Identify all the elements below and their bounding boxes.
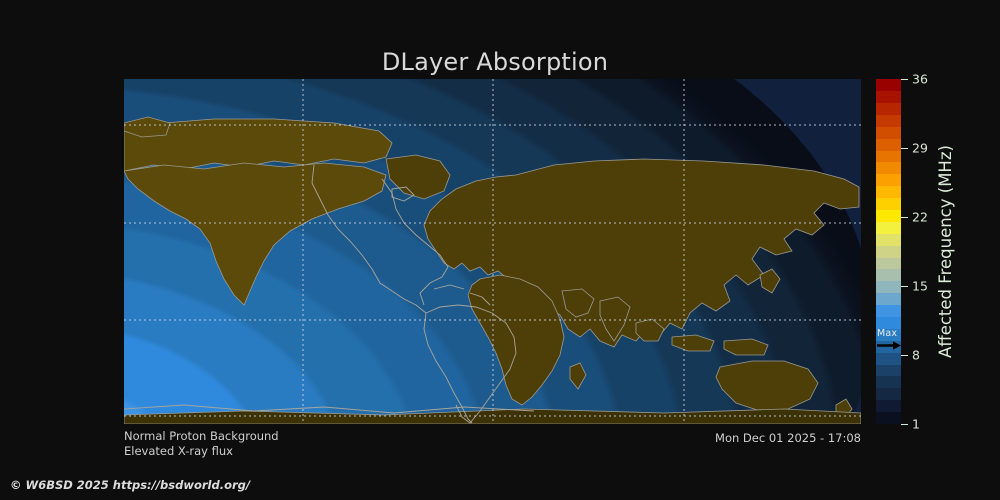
- colorbar-tick-label: 36: [912, 72, 928, 87]
- figure-canvas: DLayer Absorption: [0, 0, 1000, 500]
- status-captions: Normal Proton Background Elevated X-ray …: [124, 429, 279, 459]
- colorbar-tick: [901, 217, 908, 218]
- colorbar-tick-label: 8: [912, 348, 920, 363]
- colorbar-tick-label: 15: [912, 279, 928, 294]
- colorbar-swatch: [876, 198, 901, 210]
- colorbar-swatch: [876, 210, 901, 222]
- colorbar-swatch: [876, 400, 901, 412]
- colorbar-swatch: [876, 222, 901, 234]
- colorbar-tick: [901, 79, 908, 80]
- colorbar-swatch: [876, 151, 901, 163]
- colorbar-swatch: [876, 79, 901, 91]
- colorbar-swatch: [876, 365, 901, 377]
- xray-status: Elevated X-ray flux: [124, 444, 279, 459]
- colorbar-tick-label: 1: [912, 417, 920, 432]
- colorbar-swatch: [876, 412, 901, 424]
- colorbar-swatch: [876, 388, 901, 400]
- colorbar-swatch: [876, 139, 901, 151]
- colorbar-swatch: [876, 305, 901, 317]
- colorbar-swatch: [876, 234, 901, 246]
- colorbar-swatch: [876, 258, 901, 270]
- colorbar-tick: [901, 355, 908, 356]
- world-absorption-map: [124, 79, 861, 424]
- footer-credit: © W6BSD 2025 https://bsdworld.org/: [10, 478, 250, 492]
- colorbar-swatch: [876, 127, 901, 139]
- page-title: DLayer Absorption: [0, 48, 990, 76]
- colorbar-tick: [901, 286, 908, 287]
- colorbar-swatch: [876, 329, 901, 341]
- colorbar-tick-label: 29: [912, 141, 928, 156]
- colorbar-swatch: [876, 269, 901, 281]
- colorbar-swatch: [876, 376, 901, 388]
- colorbar-axis-label-text: Affected Frequency (MHz): [936, 145, 955, 358]
- colorbar-tick: [901, 424, 908, 425]
- colorbar-tick-label: 22: [912, 210, 928, 225]
- colorbar-swatch: [876, 353, 901, 365]
- colorbar-swatch: [876, 186, 901, 198]
- colorbar-tick: [901, 148, 908, 149]
- colorbar-swatch: [876, 293, 901, 305]
- colorbar-swatch: [876, 103, 901, 115]
- colorbar-swatch: [876, 115, 901, 127]
- proton-status: Normal Proton Background: [124, 429, 279, 444]
- map-svg: [124, 79, 861, 424]
- colorbar-swatch: [876, 341, 901, 353]
- colorbar[interactable]: [876, 79, 901, 424]
- colorbar-swatch: [876, 91, 901, 103]
- colorbar-swatch: [876, 162, 901, 174]
- colorbar-swatch: [876, 174, 901, 186]
- colorbar-swatch: [876, 281, 901, 293]
- colorbar-swatch: [876, 246, 901, 258]
- timestamp: Mon Dec 01 2025 - 17:08: [560, 431, 861, 445]
- colorbar-axis-label: Affected Frequency (MHz): [930, 79, 960, 424]
- colorbar-swatch: [876, 317, 901, 329]
